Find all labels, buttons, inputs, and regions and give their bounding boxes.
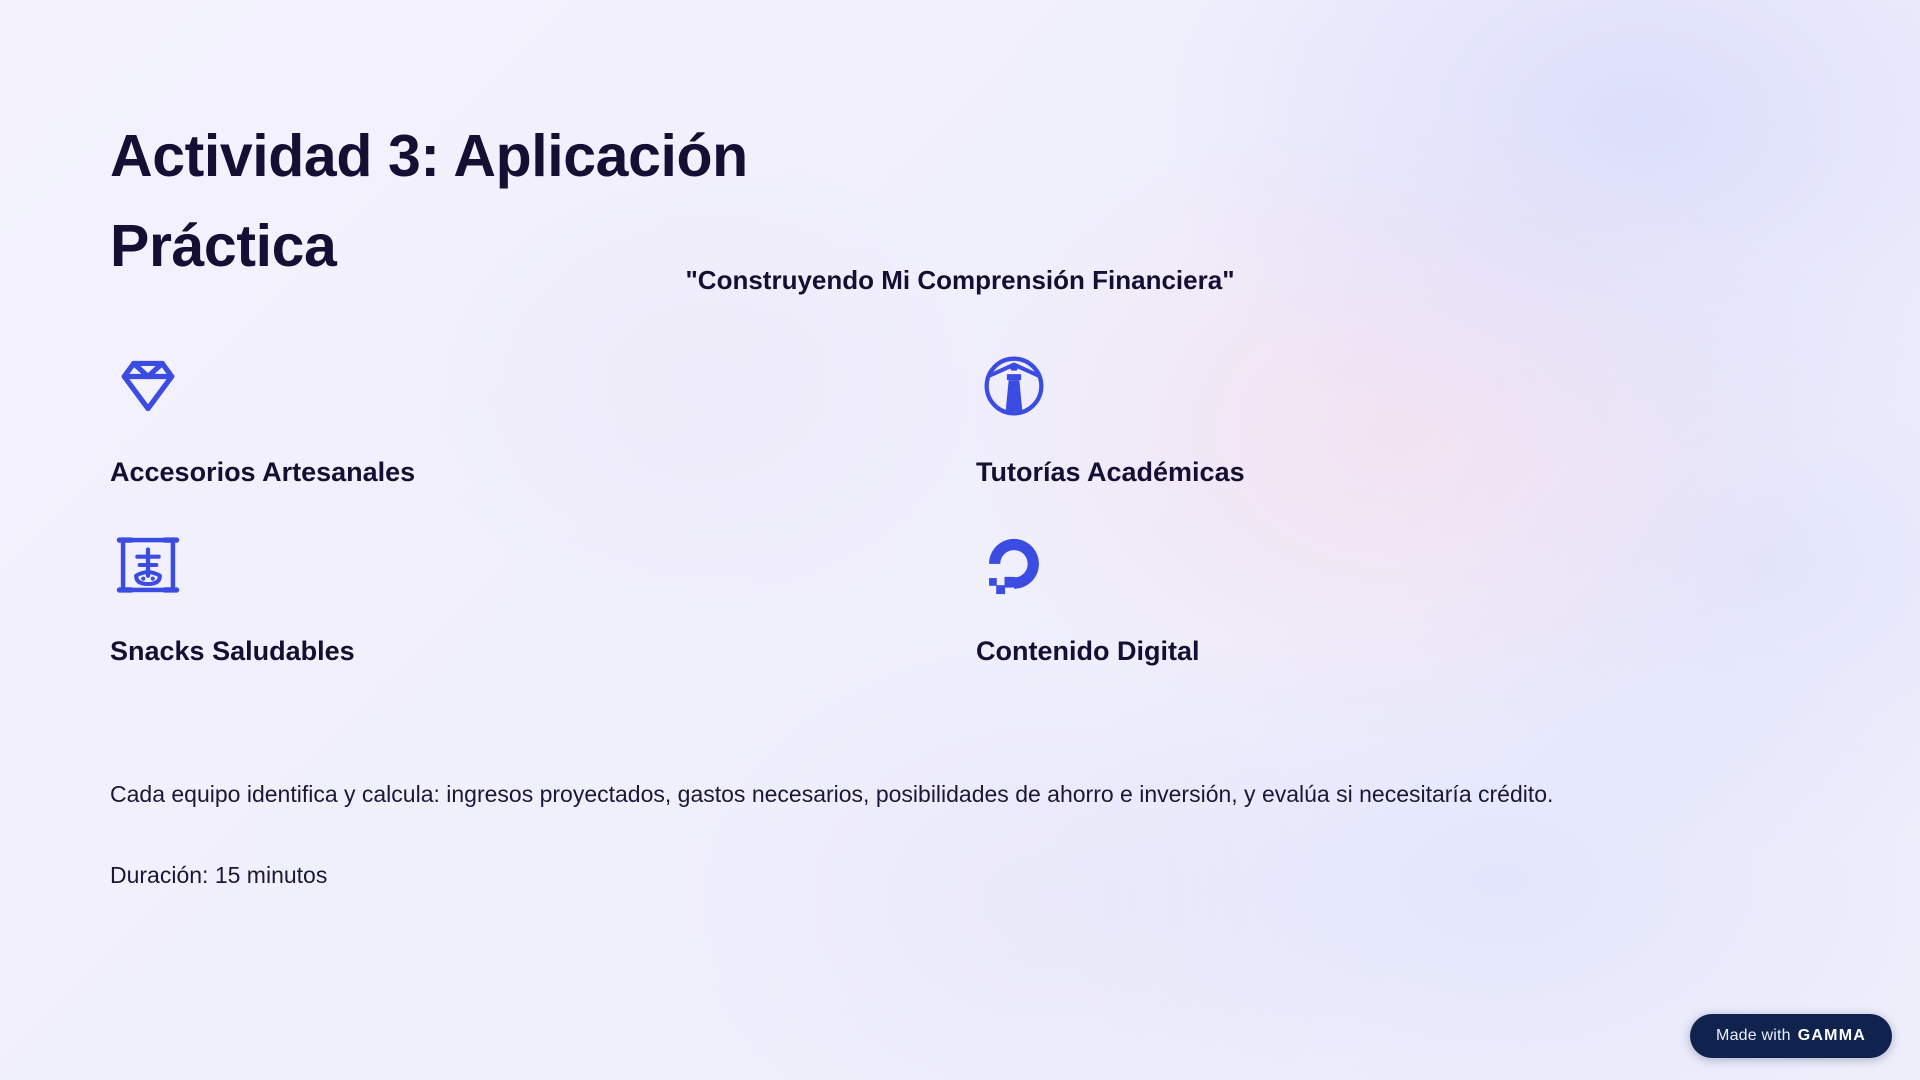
body-block: Cada equipo identifica y calcula: ingres… <box>110 770 1710 901</box>
lighthouse-circle-icon <box>976 348 1052 424</box>
digital-cloud-blocks-icon <box>976 527 1052 603</box>
gamma-wordmark: GAMMA <box>1798 1027 1866 1045</box>
activity-description: Cada equipo identifica y calcula: ingres… <box>110 770 1710 819</box>
diamond-gem-icon <box>110 348 186 424</box>
grid-row-2: Snacks Saludables Contenido Digital <box>110 527 1490 674</box>
idea-label: Snacks Saludables <box>110 629 440 674</box>
slide-canvas: Actividad 3: Aplicación Práctica "Constr… <box>0 0 1920 1080</box>
slide-subtitle: "Construyendo Mi Comprensión Financiera" <box>660 258 1260 303</box>
made-with-gamma-badge[interactable]: Made with GAMMA <box>1690 1014 1892 1058</box>
activity-duration: Duración: 15 minutos <box>110 851 1710 900</box>
business-ideas-grid: Accesorios Artesanales Tutorías Ac <box>110 348 1490 673</box>
idea-cell-snacks-saludables: Snacks Saludables <box>110 527 976 674</box>
idea-label: Tutorías Académicas <box>976 450 1306 495</box>
idea-cell-accesorios-artesanales: Accesorios Artesanales <box>110 348 976 495</box>
idea-cell-tutorias-academicas: Tutorías Académicas <box>976 348 1490 495</box>
made-with-label: Made with <box>1716 1027 1791 1045</box>
framed-plant-icon <box>110 527 186 603</box>
idea-cell-contenido-digital: Contenido Digital <box>976 527 1490 674</box>
idea-label: Accesorios Artesanales <box>110 450 440 495</box>
grid-row-1: Accesorios Artesanales Tutorías Ac <box>110 348 1490 495</box>
idea-label: Contenido Digital <box>976 629 1306 674</box>
